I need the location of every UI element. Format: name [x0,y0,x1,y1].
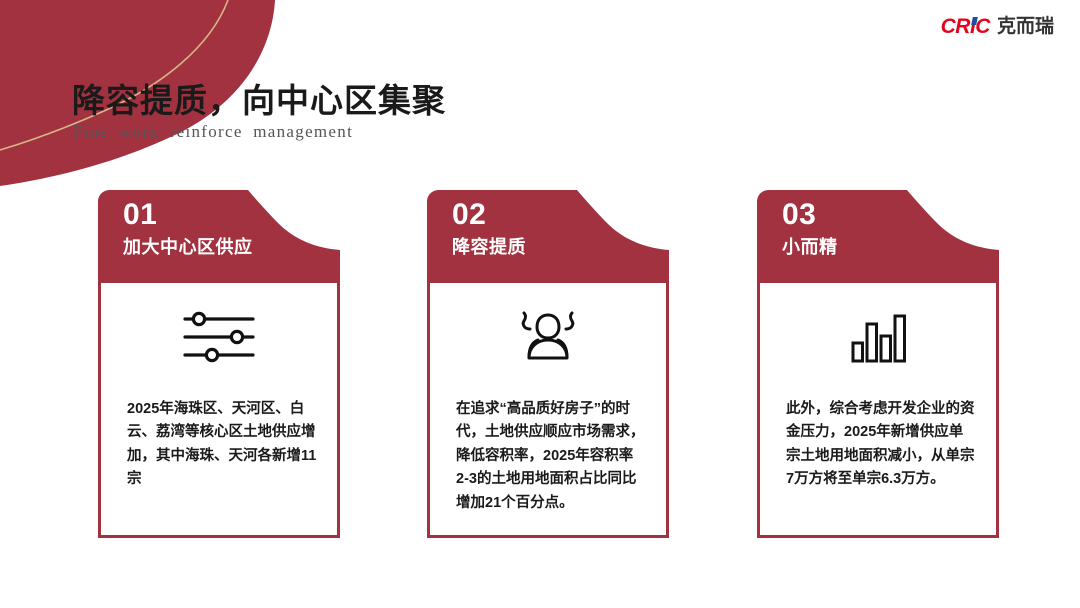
card-body-panel: 此外，综合考虑开发企业的资金压力，2025年新增供应单宗土地用地面积减小，从单宗… [757,280,999,538]
logo-wordmark: CRIC [941,16,990,37]
card-body-panel: 2025年海珠区、天河区、白云、荔湾等核心区土地供应增加，其中海珠、天河各新增1… [98,280,340,538]
card-body-text: 2025年海珠区、天河区、白云、荔湾等核心区土地供应增加，其中海珠、天河各新增1… [127,398,317,492]
card-number: 02 [452,200,486,230]
info-card-01: 01 加大中心区供应 2025年海珠区、天河区、白云、荔湾等核心区土地供应增加，… [98,188,340,538]
info-card-03: 03 小而精 此外，综合考虑开发企业的资金压力，2025年新增供应单宗土地用地面… [757,188,999,538]
card-number: 03 [782,200,816,230]
card-heading: 加大中心区供应 [123,238,253,256]
logo-accent-mark [971,17,978,25]
people-group-icon [430,306,666,368]
page-subtitle: Fine work reinforce management [73,122,353,142]
brand-logo: CRIC 克而瑞 [941,13,1054,39]
card-heading: 小而精 [782,238,838,256]
card-body-text: 此外，综合考虑开发企业的资金压力，2025年新增供应单宗土地用地面积减小，从单宗… [786,398,976,492]
card-body-text: 在追求“高品质好房子”的时代，土地供应顺应市场需求，降低容积率，2025年容积率… [456,398,646,515]
card-heading: 降容提质 [452,238,526,256]
bar-chart-icon [760,306,996,368]
card-body-panel: 在追求“高品质好房子”的时代，土地供应顺应市场需求，降低容积率，2025年容积率… [427,280,669,538]
sliders-icon [101,306,337,368]
logo-wordmark-text: CRIC [941,15,990,38]
info-card-02: 02 降容提质 在追求“高品质好房子”的时代，土地供应顺应市场需求，降低容积率，… [427,188,669,538]
slide-canvas: CRIC 克而瑞 降容提质，向中心区集聚 Fine work reinforce… [0,0,1080,608]
logo-chinese-name: 克而瑞 [997,17,1054,36]
page-title: 降容提质，向中心区集聚 [72,74,446,122]
card-number: 01 [123,200,157,230]
